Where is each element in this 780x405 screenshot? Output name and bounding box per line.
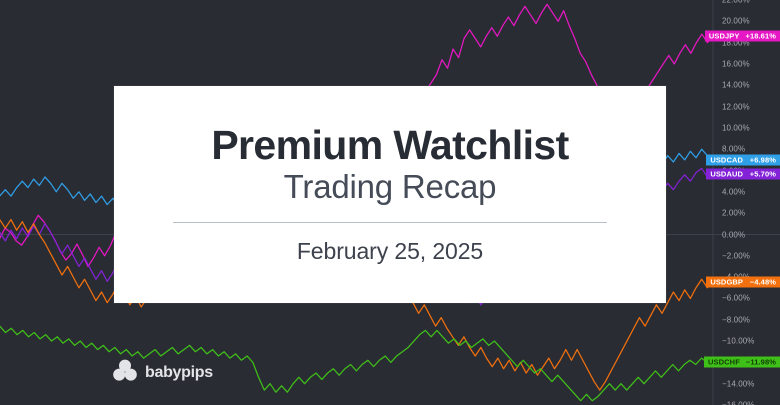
y-axis-tick-label: 14.00% bbox=[722, 81, 750, 90]
y-axis-tick-label: 10.00% bbox=[722, 123, 750, 132]
y-axis-tick-label: −2.00% bbox=[722, 251, 750, 260]
y-axis-tick-labels: 22.00%20.00%18.00%16.00%14.00%12.00%10.0… bbox=[718, 0, 780, 405]
y-axis-tick-label: 12.00% bbox=[722, 102, 750, 111]
babypips-logo: babypips bbox=[113, 359, 213, 386]
badge-symbol: USDJPY bbox=[705, 31, 743, 42]
y-axis-tick-label: −6.00% bbox=[722, 294, 750, 303]
y-axis-tick-label: −10.00% bbox=[722, 337, 755, 346]
badge-value: +6.98% bbox=[746, 155, 780, 166]
price-badge-usdjpy[interactable]: USDJPY+18.61% bbox=[705, 31, 780, 42]
badge-symbol: USDCHF bbox=[704, 357, 743, 368]
price-badge-usdgbp[interactable]: USDGBP−4.48% bbox=[706, 277, 780, 288]
card-divider bbox=[173, 222, 607, 223]
y-axis-tick-label: 20.00% bbox=[722, 17, 750, 26]
y-axis-tick-label: 4.00% bbox=[722, 187, 745, 196]
y-axis-tick-label: 2.00% bbox=[722, 209, 745, 218]
y-axis-tick-label: 8.00% bbox=[722, 145, 745, 154]
price-badge-usdcad[interactable]: USDCAD+6.98% bbox=[706, 155, 780, 166]
badge-value: −11.98% bbox=[743, 357, 780, 368]
y-axis-tick-label: −16.00% bbox=[722, 401, 755, 405]
y-axis-tick-label: 22.00% bbox=[722, 0, 750, 5]
babypips-wordmark: babypips bbox=[145, 364, 213, 382]
badge-value: +5.70% bbox=[746, 168, 780, 179]
y-axis-tick-label: 0.00% bbox=[722, 230, 745, 239]
y-axis-tick-label: −8.00% bbox=[722, 315, 750, 324]
watchlist-recap-graphic: 22.00%20.00%18.00%16.00%14.00%12.00%10.0… bbox=[0, 0, 780, 405]
price-badge-usdaud[interactable]: USDAUD+5.70% bbox=[706, 168, 780, 179]
page-title: Premium Watchlist bbox=[211, 124, 568, 167]
price-badge-usdchf[interactable]: USDCHF−11.98% bbox=[704, 357, 780, 368]
badge-value: −4.48% bbox=[746, 277, 780, 288]
badge-value: +18.61% bbox=[742, 31, 780, 42]
badge-symbol: USDCAD bbox=[706, 155, 746, 166]
y-axis-tick-label: 16.00% bbox=[722, 59, 750, 68]
page-subtitle: Trading Recap bbox=[284, 169, 497, 205]
badge-symbol: USDAUD bbox=[706, 168, 746, 179]
y-axis-tick-label: −14.00% bbox=[722, 379, 755, 388]
title-card: Premium Watchlist Trading Recap February… bbox=[114, 86, 666, 303]
recap-date: February 25, 2025 bbox=[297, 238, 483, 265]
badge-symbol: USDGBP bbox=[706, 277, 746, 288]
babypips-dots-logo-icon bbox=[113, 359, 137, 386]
